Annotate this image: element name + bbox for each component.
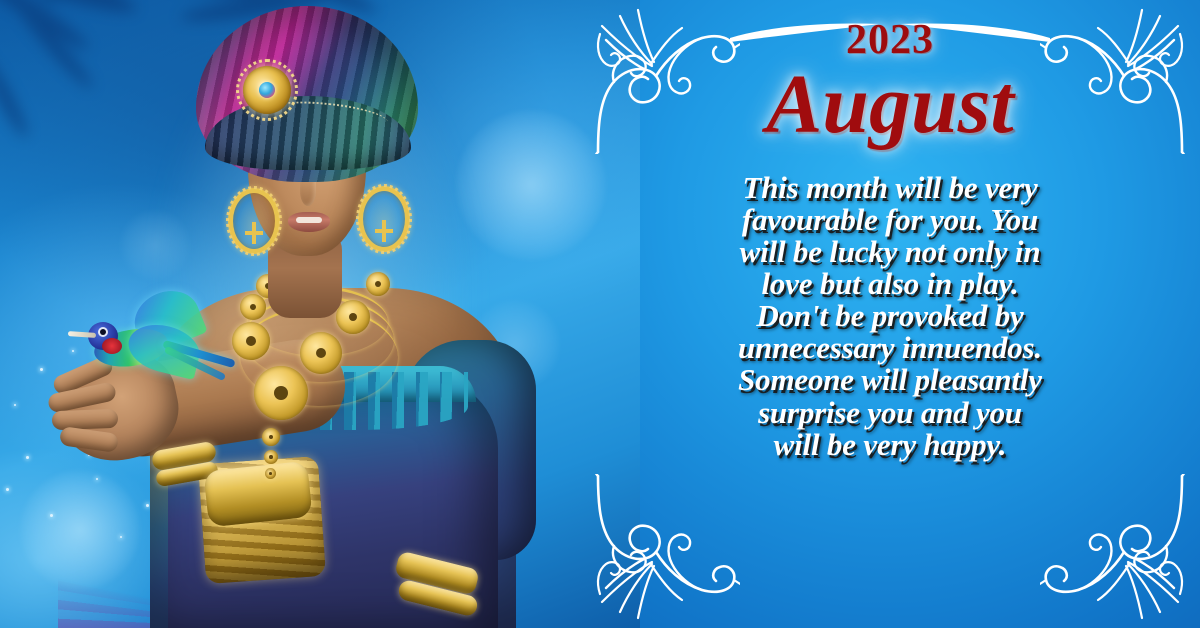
necklace-disc — [300, 332, 342, 374]
earring-beads — [356, 184, 412, 254]
finger — [52, 409, 119, 430]
turban-brooch — [243, 66, 291, 114]
forecast-line: This month will be very — [650, 172, 1130, 204]
forecast-line: Someone will pleasantly — [650, 364, 1130, 396]
forecast-line: Don't be provoked by — [650, 300, 1130, 332]
forecast-line: love but also in play. — [650, 268, 1130, 300]
necklace-disc — [232, 322, 270, 360]
earring-beads — [226, 186, 282, 256]
necklace-disc — [336, 300, 370, 334]
forecast-panel: 2023 August This month will be veryfavou… — [580, 0, 1200, 628]
forecast-line: will be lucky not only in — [650, 236, 1130, 268]
necklace-disc — [366, 272, 390, 296]
month-title: August — [580, 56, 1200, 153]
necklace-drop — [262, 428, 280, 446]
earring-ornament — [245, 222, 263, 244]
hoop-earring — [228, 188, 280, 254]
necklace-drop — [265, 468, 276, 479]
necklace-pendant — [254, 366, 308, 420]
corner-flourish-icon — [590, 474, 740, 624]
forecast-line: favourable for you. You — [650, 204, 1130, 236]
forecast-line: will be very happy. — [650, 429, 1130, 461]
hummingbird-throat — [102, 338, 122, 354]
forecast-line: surprise you and you — [650, 397, 1130, 429]
earring-ornament — [375, 220, 393, 242]
hoop-earring — [358, 186, 410, 252]
horoscope-card: 2023 August This month will be veryfavou… — [0, 0, 1200, 628]
forecast-line: unnecessary innuendos. — [650, 332, 1130, 364]
hummingbird-eye — [100, 329, 106, 335]
teeth — [296, 217, 322, 223]
necklace-drop — [264, 450, 278, 464]
corner-flourish-icon — [1040, 474, 1190, 624]
forecast-text: This month will be veryfavourable for yo… — [650, 172, 1130, 461]
hummingbird — [62, 286, 212, 396]
necklace-disc — [240, 294, 266, 320]
arm-cuff — [203, 461, 312, 528]
fortune-teller-figure — [0, 0, 600, 628]
hummingbird-beak — [68, 331, 96, 338]
